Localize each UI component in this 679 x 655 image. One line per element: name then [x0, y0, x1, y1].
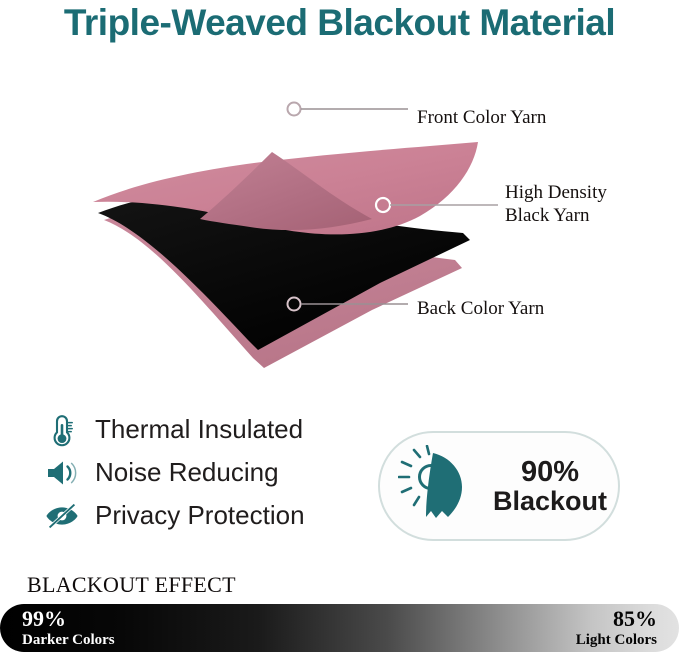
sun-behind-curtain-icon — [392, 445, 488, 527]
feature-label-privacy-protection: Privacy Protection — [95, 500, 305, 531]
blackout-percent-value: 90% — [488, 457, 612, 487]
label-high-density-line1: High Density — [505, 181, 607, 204]
light-colors-stat: 85% Light Colors — [576, 607, 657, 648]
label-front-color-yarn: Front Color Yarn — [417, 106, 546, 129]
label-high-density-line2: Black Yarn — [505, 204, 607, 227]
blackout-effect-heading: BLACKOUT EFFECT — [27, 572, 236, 598]
thermometer-icon — [42, 412, 82, 448]
blackout-percentage-badge: 90% Blackout — [378, 431, 620, 541]
darker-colors-percent: 99% — [22, 607, 115, 632]
feature-noise-reducing: Noise Reducing — [42, 451, 372, 494]
leader-front-color-yarn — [288, 103, 409, 116]
eye-slash-icon — [42, 498, 82, 534]
page-title: Triple-Weaved Blackout Material — [0, 2, 679, 44]
label-high-density-black-yarn: High Density Black Yarn — [505, 181, 607, 227]
feature-label-noise-reducing: Noise Reducing — [95, 457, 279, 488]
darker-colors-label: Darker Colors — [22, 632, 115, 649]
feature-privacy-protection: Privacy Protection — [42, 494, 372, 537]
blackout-effect-gradient-bar: 99% Darker Colors 85% Light Colors — [0, 604, 679, 652]
speaker-icon — [42, 455, 82, 491]
light-colors-label: Light Colors — [576, 632, 657, 649]
blackout-percent-label: Blackout — [488, 487, 612, 515]
feature-label-thermal-insulated: Thermal Insulated — [95, 414, 303, 445]
feature-thermal-insulated: Thermal Insulated — [42, 408, 372, 451]
darker-colors-stat: 99% Darker Colors — [22, 607, 115, 648]
label-back-color-yarn: Back Color Yarn — [417, 297, 544, 320]
light-colors-percent: 85% — [576, 607, 657, 632]
feature-list: Thermal Insulated Noise Reducing Privacy… — [42, 408, 372, 537]
blackout-badge-text: 90% Blackout — [488, 457, 618, 516]
